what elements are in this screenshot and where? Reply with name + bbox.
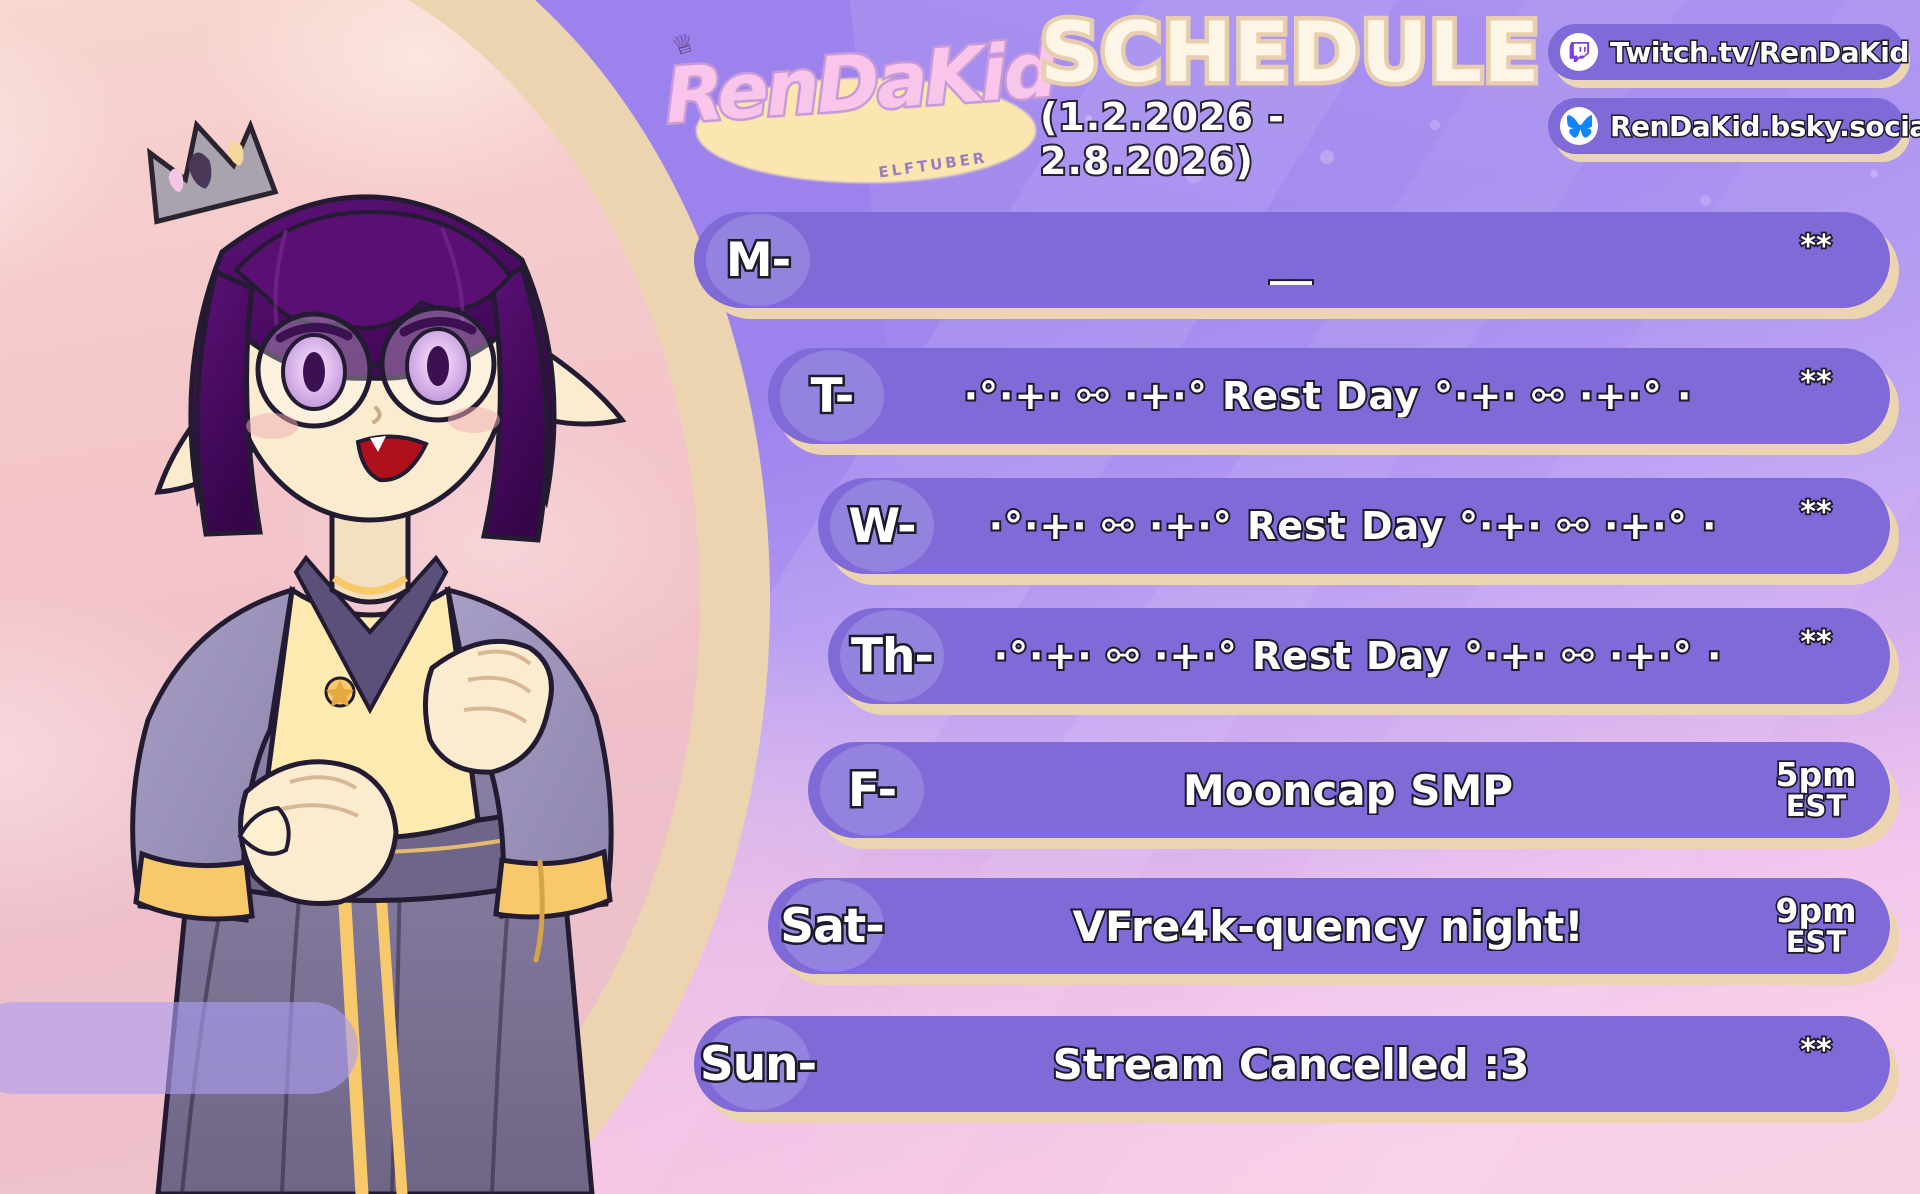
schedule-row-wednesday[interactable]: W- ·°·+· ⚯ ·+·° Rest Day °·+· ⚯ ·+·° · *…	[818, 478, 1890, 574]
row-time-primary: **	[1800, 625, 1831, 660]
day-label: F-	[848, 763, 896, 818]
row-time: 5pm EST	[1760, 758, 1890, 821]
row-time-primary: **	[1800, 365, 1831, 400]
day-label: Th-	[851, 629, 933, 684]
day-label: Sat-	[780, 899, 884, 954]
day-label: T-	[811, 369, 854, 424]
row-content: ·°·+· ⚯ ·+·° Rest Day °·+· ⚯ ·+·° ·	[896, 374, 1760, 418]
schedule-row-monday[interactable]: M- __ **	[694, 212, 1890, 308]
social-links: Twitch.tv/RenDaKid RenDaKid.bsky.social	[1548, 24, 1904, 172]
row-content: VFre4k-quency night!	[896, 902, 1760, 951]
bluesky-butterfly-icon	[1560, 107, 1598, 145]
twitch-icon	[1560, 33, 1598, 71]
page-title: SCHEDULE	[1040, 12, 1510, 93]
schedule-graphic: ♕ RenDaKid ELFTUBER SCHEDULE (1.2.2026 -…	[0, 0, 1920, 1194]
social-link-bluesky[interactable]: RenDaKid.bsky.social	[1548, 98, 1904, 154]
title-block: SCHEDULE (1.2.2026 - 2.8.2026)	[1040, 12, 1510, 183]
schedule-list: M- __ ** T- ·°·+· ⚯ ·+·° Rest Day °·+· ⚯…	[0, 200, 1920, 1194]
row-content: ·°·+· ⚯ ·+·° Rest Day °·+· ⚯ ·+·° ·	[956, 634, 1760, 678]
row-time: 9pm EST	[1760, 894, 1890, 957]
day-badge-thursday: Th-	[828, 608, 956, 704]
day-badge-sunday: Sun-	[694, 1016, 822, 1112]
schedule-row-tuesday[interactable]: T- ·°·+· ⚯ ·+·° Rest Day °·+· ⚯ ·+·° · *…	[768, 348, 1890, 444]
social-label-twitch: Twitch.tv/RenDaKid	[1610, 36, 1909, 69]
day-badge-saturday: Sat-	[768, 878, 896, 974]
day-badge-monday: M-	[694, 212, 822, 308]
brand-logo: ♕ RenDaKid ELFTUBER	[650, 16, 1070, 191]
day-label: W-	[848, 499, 915, 554]
row-time: **	[1760, 498, 1890, 555]
row-time: **	[1760, 628, 1890, 685]
day-badge-tuesday: T-	[768, 348, 896, 444]
day-label: Sun-	[700, 1037, 816, 1092]
row-time: **	[1760, 1036, 1890, 1093]
schedule-row-saturday[interactable]: Sat- VFre4k-quency night! 9pm EST	[768, 878, 1890, 974]
row-content: __	[822, 236, 1760, 285]
schedule-row-thursday[interactable]: Th- ·°·+· ⚯ ·+·° Rest Day °·+· ⚯ ·+·° · …	[828, 608, 1890, 704]
row-time-zone: EST	[1760, 928, 1872, 958]
row-content: Stream Cancelled :3	[822, 1040, 1760, 1089]
day-label: M-	[726, 233, 790, 288]
header: ♕ RenDaKid ELFTUBER SCHEDULE (1.2.2026 -…	[640, 0, 1920, 200]
social-label-bluesky: RenDaKid.bsky.social	[1610, 110, 1920, 143]
row-content: ·°·+· ⚯ ·+·° Rest Day °·+· ⚯ ·+·° ·	[946, 504, 1760, 548]
schedule-row-sunday[interactable]: Sun- Stream Cancelled :3 **	[694, 1016, 1890, 1112]
row-content: Mooncap SMP	[936, 766, 1760, 815]
social-link-twitch[interactable]: Twitch.tv/RenDaKid	[1548, 24, 1904, 80]
day-badge-wednesday: W-	[818, 478, 946, 574]
row-time-zone: EST	[1760, 792, 1872, 822]
row-time-primary: **	[1800, 495, 1831, 530]
schedule-row-friday[interactable]: F- Mooncap SMP 5pm EST	[808, 742, 1890, 838]
row-time: **	[1760, 368, 1890, 425]
row-time-primary: **	[1800, 1033, 1831, 1068]
date-range: (1.2.2026 - 2.8.2026)	[1040, 95, 1510, 183]
day-badge-friday: F-	[808, 742, 936, 838]
row-time: **	[1760, 232, 1890, 289]
row-time-primary: **	[1800, 229, 1831, 264]
